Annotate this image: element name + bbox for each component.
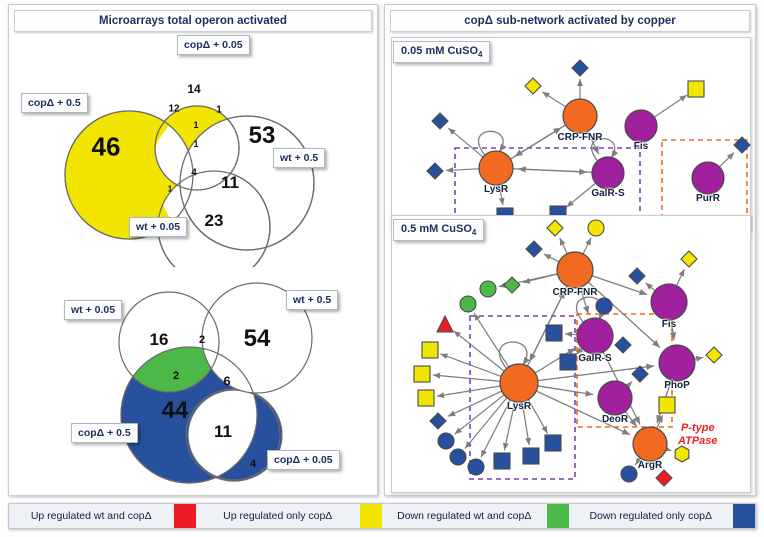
- legend: Up regulated wt and copΔUp regulated onl…: [8, 503, 756, 529]
- subpanel-005-label: 0.05 mM CuSO4: [393, 41, 490, 63]
- p-type-atpase-annotation: P-type ATPase: [678, 422, 718, 447]
- network-target-node[interactable]: [547, 220, 563, 236]
- right-panel: copΔ sub-network activated by copper CRP…: [384, 4, 756, 496]
- network-target-node[interactable]: [450, 449, 466, 465]
- venn-set-label: copΔ + 0.05: [267, 450, 340, 470]
- network-target-node[interactable]: [621, 466, 637, 482]
- network-edge: [455, 395, 505, 434]
- network-edge: [454, 331, 505, 371]
- network-target-node[interactable]: [427, 163, 443, 179]
- legend-item-label: Up regulated wt and copΔ: [9, 504, 174, 528]
- legend-swatch-red: [174, 504, 196, 528]
- network-edge: [580, 287, 588, 314]
- network-target-node[interactable]: [545, 435, 561, 451]
- network-target-node[interactable]: [525, 78, 541, 94]
- network-edge: [654, 95, 687, 117]
- venn-down-svg: [9, 5, 379, 497]
- network-target-node[interactable]: [688, 81, 704, 97]
- network-05: CRP-FNRLysRGalR-SFisPhoPDeoRArgR: [392, 216, 750, 492]
- subpanel-05-label: 0.5 mM CuSO4: [393, 219, 484, 241]
- network-regulator-crp-fnr[interactable]: [563, 99, 597, 133]
- venn-set-label: copΔ + 0.5: [71, 423, 138, 443]
- network-regulator-fis[interactable]: [651, 284, 687, 320]
- venn-region-count: 4: [250, 458, 256, 470]
- subpanel-05: CRP-FNRLysRGalR-SFisPhoPDeoRArgR P-type …: [391, 215, 751, 493]
- network-edge: [518, 169, 592, 172]
- subpanel-005-label-sub: 4: [478, 50, 482, 59]
- venn-region-count: 16: [150, 330, 169, 350]
- legend-swatch-yellow: [360, 504, 382, 528]
- network-edge: [565, 334, 577, 335]
- network-regulator-galr-s[interactable]: [577, 318, 613, 354]
- network-target-node[interactable]: [546, 325, 562, 341]
- network-target-node[interactable]: [588, 220, 604, 236]
- network-edge: [515, 125, 566, 156]
- network-005: CRP-FNRLysRGalR-SFisPurR: [392, 38, 750, 230]
- network-edge: [448, 128, 483, 157]
- venn-set-label: wt + 0.5: [273, 148, 325, 168]
- network-target-node[interactable]: [572, 60, 588, 76]
- network-edge: [627, 382, 632, 387]
- network-target-node[interactable]: [629, 268, 645, 284]
- network-regulator-phop[interactable]: [659, 345, 695, 381]
- network-edge: [437, 386, 500, 396]
- network-targets: [427, 60, 750, 224]
- network-target-node[interactable]: [414, 366, 430, 382]
- network-target-node[interactable]: [468, 459, 484, 475]
- network-edge: [646, 283, 655, 291]
- network-edge: [499, 185, 503, 205]
- network-regulator-fis[interactable]: [625, 110, 657, 142]
- legend-item: Up regulated wt and copΔ: [9, 504, 196, 528]
- network-edge: [522, 402, 529, 445]
- network-edge: [560, 238, 568, 254]
- network-regulator-purr[interactable]: [692, 162, 724, 194]
- down-regulated-venn: 162542644114: [9, 5, 379, 497]
- legend-item-label: Down regulated wt and copΔ: [382, 504, 547, 528]
- network-target-node[interactable]: [523, 448, 539, 464]
- network-regulator-argr[interactable]: [633, 427, 667, 461]
- net05-svg: [392, 216, 752, 494]
- network-target-node[interactable]: [615, 337, 631, 353]
- subpanel-005-label-text: 0.05 mM CuSO: [401, 45, 478, 57]
- network-target-node[interactable]: [480, 281, 496, 297]
- network-target-node[interactable]: [437, 316, 453, 332]
- network-edge: [528, 400, 547, 434]
- network-edge: [544, 254, 559, 262]
- p-type-line2: ATPase: [678, 435, 718, 447]
- network-target-node[interactable]: [432, 113, 448, 129]
- network-edge: [695, 357, 704, 359]
- legend-swatch-blue: [733, 504, 755, 528]
- network-target-node[interactable]: [659, 397, 675, 413]
- network-target-node[interactable]: [656, 470, 672, 486]
- right-panel-title: copΔ sub-network activated by copper: [390, 10, 750, 32]
- venn-set-label: wt + 0.5: [286, 290, 338, 310]
- network-target-node[interactable]: [460, 296, 476, 312]
- legend-item-label: Down regulated only copΔ: [569, 504, 734, 528]
- venn-region-count: 54: [244, 325, 271, 353]
- network-target-node[interactable]: [418, 390, 434, 406]
- network-regulator-crp-fnr[interactable]: [557, 252, 593, 288]
- network-edge: [538, 386, 593, 395]
- network-edge: [635, 458, 640, 465]
- network-target-node[interactable]: [681, 251, 697, 267]
- figure-root: Microarrays total operon activated: [0, 0, 764, 537]
- network-regulator-lysr[interactable]: [479, 151, 513, 185]
- venn-set-label: copΔ + 0.5: [21, 93, 88, 113]
- network-regulator-lysr[interactable]: [500, 364, 538, 402]
- legend-item: Down regulated only copΔ: [569, 504, 756, 528]
- p-type-line1: P-type: [681, 422, 715, 434]
- venn-region-count: 2: [199, 334, 205, 346]
- network-edge: [567, 183, 596, 207]
- network-target-node[interactable]: [675, 446, 689, 462]
- network-edge: [583, 238, 591, 254]
- venn-set-label: wt + 0.05: [129, 217, 187, 237]
- legend-item-label: Up regulated only copΔ: [196, 504, 361, 528]
- network-edge: [719, 153, 734, 167]
- network-target-node[interactable]: [438, 433, 454, 449]
- venn-region-count: 2: [173, 370, 179, 382]
- network-target-node[interactable]: [422, 342, 438, 358]
- network-edge: [433, 375, 500, 381]
- network-regulator-galr-s[interactable]: [592, 157, 624, 189]
- venn-set-label: wt + 0.05: [64, 300, 122, 320]
- network-edge: [666, 449, 671, 451]
- venn-set-label: copΔ + 0.05: [177, 35, 250, 55]
- network-target-node[interactable]: [706, 347, 722, 363]
- network-edge: [542, 92, 565, 107]
- network-edge: [656, 460, 659, 468]
- network-target-node[interactable]: [430, 413, 446, 429]
- venn-region-count: 11: [214, 422, 232, 442]
- network-regulator-deor[interactable]: [598, 381, 632, 415]
- network-target-node[interactable]: [596, 298, 612, 314]
- network-edge: [474, 313, 509, 367]
- network-edge: [481, 400, 510, 457]
- legend-swatch-green: [547, 504, 569, 528]
- network-edge: [446, 169, 479, 171]
- network-target-node[interactable]: [560, 354, 576, 370]
- subpanel-05-label-sub: 4: [472, 228, 476, 237]
- network-edge: [677, 269, 685, 286]
- network-target-node[interactable]: [526, 241, 542, 257]
- legend-item: Up regulated only copΔ: [196, 504, 383, 528]
- left-panel: Microarrays total operon activated: [8, 4, 378, 496]
- venn-region-count: 6: [223, 374, 230, 389]
- subpanel-005: CRP-FNRLysRGalR-SFisPurR: [391, 37, 751, 231]
- subpanel-05-label-text: 0.5 mM CuSO: [401, 223, 472, 235]
- net005-svg: [392, 38, 752, 232]
- network-target-node[interactable]: [494, 453, 510, 469]
- legend-item: Down regulated wt and copΔ: [382, 504, 569, 528]
- venn-region-count: 44: [162, 397, 189, 425]
- network-target-node[interactable]: [504, 277, 520, 293]
